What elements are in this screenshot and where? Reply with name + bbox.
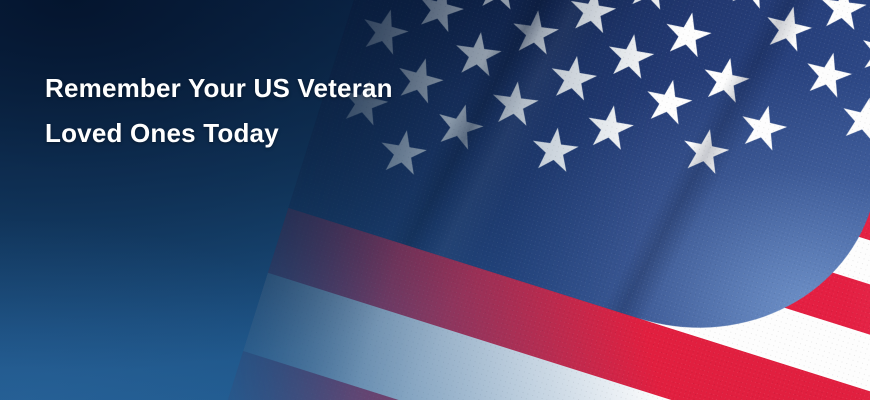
flag-star-icon	[760, 1, 815, 56]
flag-star-icon	[489, 78, 541, 130]
flag-star-icon	[661, 8, 715, 62]
flag-star-icon	[723, 0, 780, 14]
flag-star-icon	[547, 52, 600, 105]
flag-star-icon	[356, 3, 413, 60]
flag-star-icon	[412, 0, 469, 38]
flag-star-icon	[604, 30, 657, 83]
flag-star-icon	[735, 100, 790, 155]
banner-headline: Remember Your US Veteran Loved Ones Toda…	[45, 66, 393, 156]
flag-star-icon	[431, 98, 488, 155]
headline-line-2: Loved Ones Today	[45, 111, 393, 156]
american-flag-image	[198, 0, 870, 400]
flag-star-icon	[837, 92, 870, 147]
flag-star-icon	[529, 125, 581, 177]
veterans-banner: Remember Your US Veteran Loved Ones Toda…	[0, 0, 870, 400]
headline-line-1: Remember Your US Veteran	[45, 66, 393, 111]
flag-star-icon	[473, 0, 525, 14]
flag-star-icon	[817, 0, 869, 34]
flag-star-icon	[862, 0, 870, 21]
flag-star-icon	[641, 75, 695, 129]
flag-star-icon	[509, 7, 561, 59]
flag-star-icon	[391, 52, 448, 109]
flag-star-icon	[584, 102, 637, 155]
flag-star-icon	[699, 53, 753, 107]
flag-star-icon	[452, 29, 504, 81]
flag-star-icon	[623, 0, 677, 15]
flag-star-icon	[800, 47, 855, 102]
flag-star-icon	[566, 0, 619, 38]
flag-star-icon	[855, 24, 870, 81]
flag-star-icon	[678, 125, 732, 179]
